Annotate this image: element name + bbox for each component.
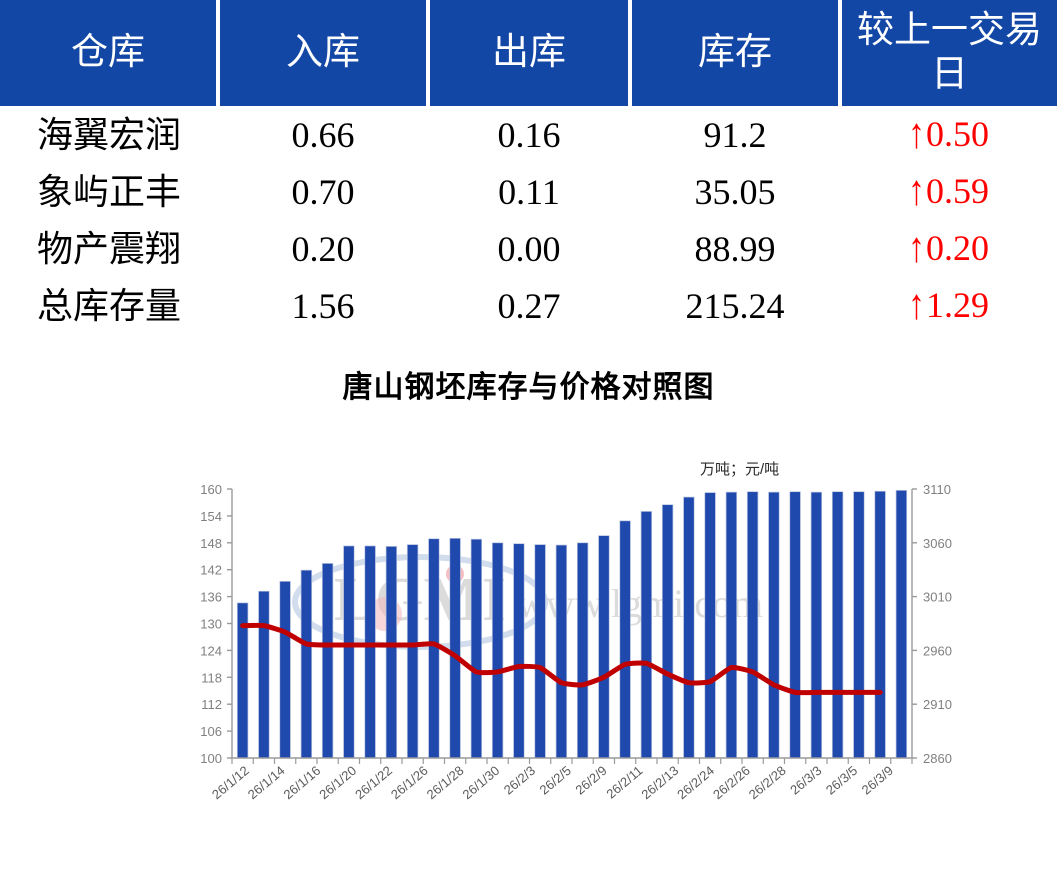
cell-change-value: 0.20 — [926, 228, 989, 268]
table-row: 总库存量 1.56 0.27 215.24 ↑1.29 — [0, 277, 1057, 334]
cell-inbound: 0.66 — [218, 106, 428, 163]
svg-text:26/1/20: 26/1/20 — [316, 763, 359, 802]
cell-stock: 215.24 — [630, 277, 840, 334]
chart-svg: LGMIwww.lgmi.com 10010611211812413013614… — [0, 352, 1057, 895]
cell-warehouse: 总库存量 — [0, 277, 218, 334]
svg-text:106: 106 — [200, 724, 222, 739]
table-header: 仓库 入库 出库 库存 较上一交易日 — [0, 0, 1057, 106]
svg-text:3060: 3060 — [923, 536, 952, 551]
x-axis-labels: 26/1/1226/1/1426/1/1626/1/2026/1/2226/1/… — [209, 763, 896, 802]
cell-inbound: 0.20 — [218, 220, 428, 277]
svg-text:118: 118 — [201, 670, 222, 685]
table-body: 海翼宏润 0.66 0.16 91.2 ↑0.50 象屿正丰 0.70 0.11… — [0, 106, 1057, 334]
svg-text:148: 148 — [200, 536, 222, 551]
svg-text:130: 130 — [200, 617, 222, 632]
table-row: 海翼宏润 0.66 0.16 91.2 ↑0.50 — [0, 106, 1057, 163]
column-header-outbound: 出库 — [428, 0, 630, 106]
svg-text:26/2/11: 26/2/11 — [603, 763, 645, 802]
arrow-up-icon: ↑ — [908, 228, 925, 271]
svg-text:26/1/22: 26/1/22 — [352, 763, 395, 802]
cell-change-value: 0.59 — [926, 171, 989, 211]
cell-change: ↑1.29 — [840, 277, 1057, 334]
svg-text:124: 124 — [200, 643, 222, 658]
svg-text:160: 160 — [200, 482, 222, 497]
warehouse-stock-table: 仓库 入库 出库 库存 较上一交易日 海翼宏润 0.66 0.16 91.2 ↑… — [0, 0, 1057, 334]
cell-warehouse: 海翼宏润 — [0, 106, 218, 163]
y-axis-left-labels: 100106112118124130136142148154160 — [200, 482, 222, 766]
svg-text:142: 142 — [200, 563, 222, 578]
column-header-change: 较上一交易日 — [840, 0, 1057, 106]
column-header-warehouse: 仓库 — [0, 0, 218, 106]
table-header-row: 仓库 入库 出库 库存 较上一交易日 — [0, 0, 1057, 106]
cell-warehouse: 象屿正丰 — [0, 163, 218, 220]
cell-stock: 88.99 — [630, 220, 840, 277]
svg-text:100: 100 — [200, 751, 222, 766]
svg-text:26/1/28: 26/1/28 — [424, 763, 467, 802]
cell-stock: 35.05 — [630, 163, 840, 220]
svg-text:3110: 3110 — [923, 482, 951, 497]
cell-change-value: 0.50 — [926, 114, 989, 154]
svg-text:26/2/3: 26/2/3 — [501, 763, 538, 798]
cell-outbound: 0.11 — [428, 163, 630, 220]
chart-plot-area: LGMIwww.lgmi.com 10010611211812413013614… — [0, 352, 1057, 895]
cell-inbound: 0.70 — [218, 163, 428, 220]
cell-stock: 91.2 — [630, 106, 840, 163]
cell-warehouse: 物产震翔 — [0, 220, 218, 277]
svg-text:2910: 2910 — [923, 697, 952, 712]
column-header-stock: 库存 — [630, 0, 840, 106]
svg-text:2860: 2860 — [923, 751, 952, 766]
svg-text:26/2/28: 26/2/28 — [746, 763, 789, 802]
svg-text:26/2/26: 26/2/26 — [710, 763, 753, 802]
svg-text:112: 112 — [201, 697, 222, 712]
y-axis-right-labels: 286029102960301030603110 — [923, 482, 952, 766]
svg-text:26/1/12: 26/1/12 — [209, 763, 252, 802]
arrow-up-icon: ↑ — [908, 114, 925, 157]
cell-inbound: 1.56 — [218, 277, 428, 334]
svg-text:136: 136 — [200, 590, 222, 605]
table-row: 物产震翔 0.20 0.00 88.99 ↑0.20 — [0, 220, 1057, 277]
svg-text:26/3/9: 26/3/9 — [859, 763, 896, 798]
svg-text:26/1/30: 26/1/30 — [459, 763, 502, 802]
svg-text:2960: 2960 — [923, 643, 952, 658]
svg-text:26/1/14: 26/1/14 — [245, 763, 288, 802]
cell-change: ↑0.50 — [840, 106, 1057, 163]
table-row: 象屿正丰 0.70 0.11 35.05 ↑0.59 — [0, 163, 1057, 220]
arrow-up-icon: ↑ — [908, 171, 925, 214]
svg-text:26/2/5: 26/2/5 — [537, 763, 574, 798]
page-root: 仓库 入库 出库 库存 较上一交易日 海翼宏润 0.66 0.16 91.2 ↑… — [0, 0, 1057, 895]
svg-text:26/1/26: 26/1/26 — [388, 763, 431, 802]
cell-outbound: 0.00 — [428, 220, 630, 277]
svg-text:3010: 3010 — [923, 590, 952, 605]
chart-block: 唐山钢坯库存与价格对照图 万吨；元/吨 LGMIwww.lgmi.com 100… — [0, 352, 1057, 895]
svg-text:26/2/13: 26/2/13 — [638, 763, 681, 802]
cell-outbound: 0.27 — [428, 277, 630, 334]
svg-text:154: 154 — [200, 509, 222, 524]
cell-change: ↑0.20 — [840, 220, 1057, 277]
column-header-inbound: 入库 — [218, 0, 428, 106]
svg-text:26/2/24: 26/2/24 — [674, 763, 717, 802]
svg-text:26/3/3: 26/3/3 — [787, 763, 824, 798]
arrow-up-icon: ↑ — [908, 285, 925, 328]
svg-text:26/1/16: 26/1/16 — [281, 763, 324, 802]
svg-text:26/3/5: 26/3/5 — [823, 763, 860, 798]
cell-outbound: 0.16 — [428, 106, 630, 163]
cell-change: ↑0.59 — [840, 163, 1057, 220]
cell-change-value: 1.29 — [926, 285, 989, 325]
